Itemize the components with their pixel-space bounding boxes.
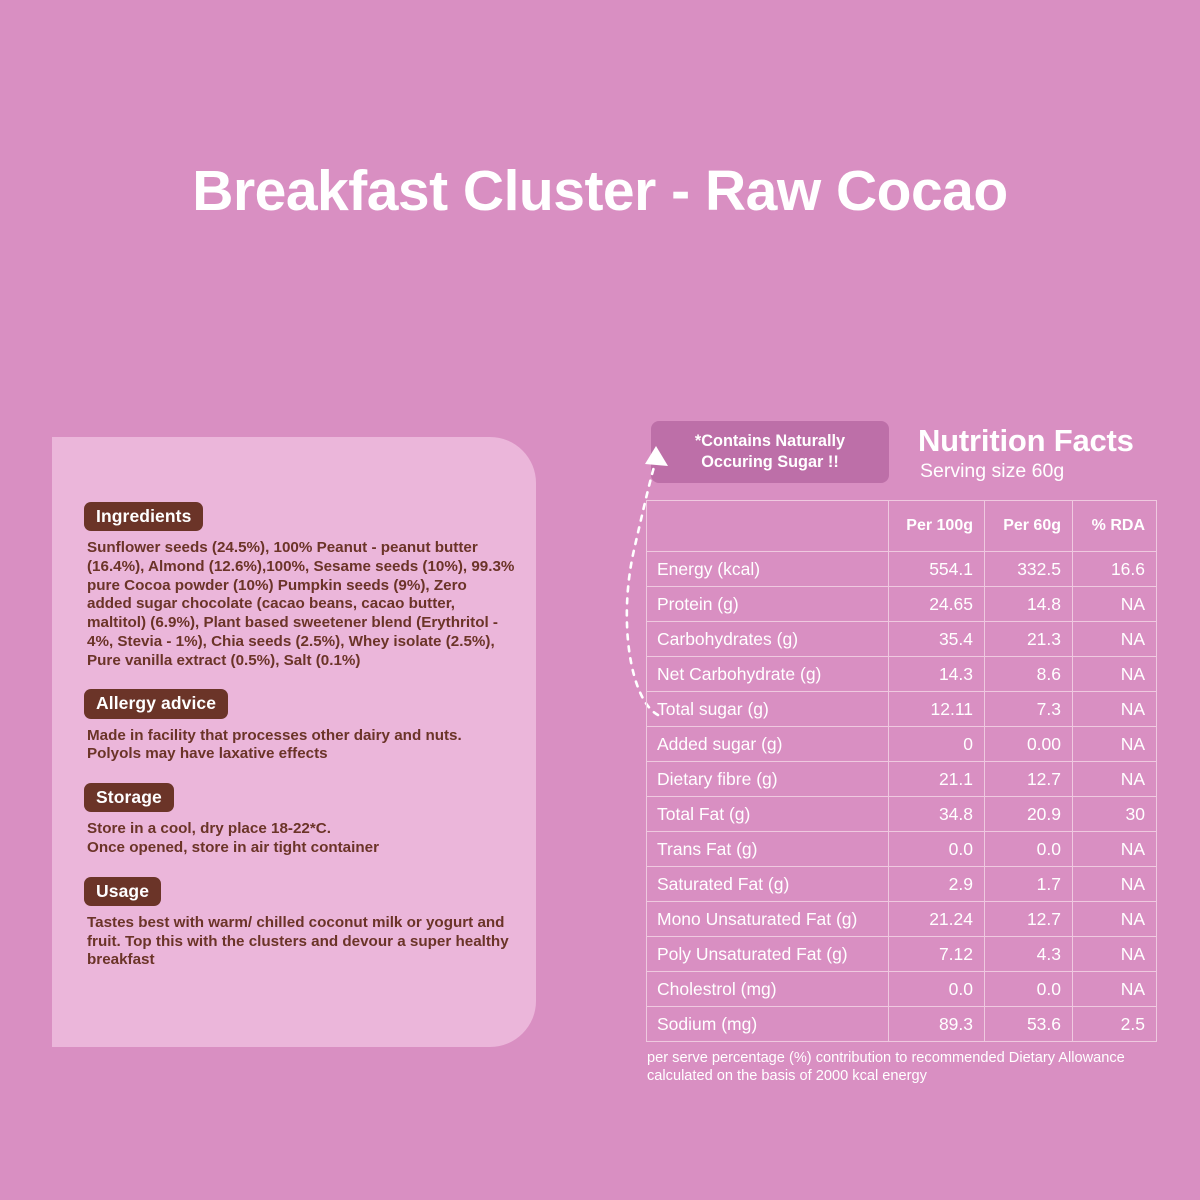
section-body-usage: Tastes best with warm/ chilled coconut m… [87,914,515,970]
rda-footnote: per serve percentage (%) contribution to… [647,1049,1159,1085]
cell-nutrient-name: Added sugar (g) [647,727,889,762]
cell-rda: 30 [1073,797,1157,832]
cell-per-100g: 89.3 [889,1007,985,1042]
cell-per-100g: 0.0 [889,832,985,867]
cell-rda: NA [1073,587,1157,622]
cell-nutrient-name: Sodium (mg) [647,1007,889,1042]
product-info-card: Ingredients Sunflower seeds (24.5%), 100… [52,437,536,1047]
cell-nutrient-name: Energy (kcal) [647,552,889,587]
cell-rda: NA [1073,867,1157,902]
cell-per-60g: 0.00 [985,727,1073,762]
cell-rda: NA [1073,657,1157,692]
cell-rda: NA [1073,762,1157,797]
table-row: Total Fat (g)34.820.930 [647,797,1157,832]
table-row: Total sugar (g)12.117.3NA [647,692,1157,727]
cell-per-100g: 34.8 [889,797,985,832]
cell-per-60g: 21.3 [985,622,1073,657]
cell-per-60g: 1.7 [985,867,1073,902]
cell-nutrient-name: Total sugar (g) [647,692,889,727]
sugar-callout-line1: *Contains Naturally [689,431,851,452]
cell-per-60g: 0.0 [985,832,1073,867]
cell-per-60g: 14.8 [985,587,1073,622]
section-label-usage: Usage [84,877,161,906]
cell-per-100g: 35.4 [889,622,985,657]
table-row: Carbohydrates (g)35.421.3NA [647,622,1157,657]
section-label-storage: Storage [84,783,174,812]
cell-rda: NA [1073,727,1157,762]
section-label-allergy-advice: Allergy advice [84,689,228,718]
cell-nutrient-name: Trans Fat (g) [647,832,889,867]
cell-per-60g: 332.5 [985,552,1073,587]
cell-nutrient-name: Saturated Fat (g) [647,867,889,902]
cell-per-100g: 7.12 [889,937,985,972]
info-card-sections: Ingredients Sunflower seeds (24.5%), 100… [84,502,514,989]
cell-per-60g: 4.3 [985,937,1073,972]
page-title: Breakfast Cluster - Raw Cocao [0,160,1200,223]
sugar-callout-line2: Occuring Sugar !! [689,452,851,473]
column-header-per-100g: Per 100g [889,501,985,552]
table-header: Per 100g Per 60g % RDA [647,501,1157,552]
cell-nutrient-name: Net Carbohydrate (g) [647,657,889,692]
cell-per-60g: 53.6 [985,1007,1073,1042]
cell-per-60g: 0.0 [985,972,1073,1007]
cell-per-100g: 21.24 [889,902,985,937]
nutrition-facts-heading: Nutrition Facts [918,423,1134,459]
table-header-row: Per 100g Per 60g % RDA [647,501,1157,552]
cell-per-60g: 20.9 [985,797,1073,832]
table-row: Saturated Fat (g)2.91.7NA [647,867,1157,902]
table-row: Energy (kcal)554.1332.516.6 [647,552,1157,587]
cell-rda: NA [1073,622,1157,657]
cell-per-100g: 14.3 [889,657,985,692]
cell-per-60g: 8.6 [985,657,1073,692]
table-row: Added sugar (g)00.00NA [647,727,1157,762]
table-row: Net Carbohydrate (g)14.38.6NA [647,657,1157,692]
cell-nutrient-name: Mono Unsaturated Fat (g) [647,902,889,937]
cell-rda: NA [1073,972,1157,1007]
table-row: Dietary fibre (g)21.112.7NA [647,762,1157,797]
nutrition-facts-table: Per 100g Per 60g % RDA Energy (kcal)554.… [646,500,1157,1042]
cell-rda: NA [1073,937,1157,972]
cell-nutrient-name: Poly Unsaturated Fat (g) [647,937,889,972]
table-row: Mono Unsaturated Fat (g)21.2412.7NA [647,902,1157,937]
cell-per-100g: 2.9 [889,867,985,902]
cell-rda: NA [1073,832,1157,867]
column-header-per-60g: Per 60g [985,501,1073,552]
cell-nutrient-name: Dietary fibre (g) [647,762,889,797]
cell-per-100g: 0.0 [889,972,985,1007]
cell-nutrient-name: Cholestrol (mg) [647,972,889,1007]
table-row: Cholestrol (mg)0.00.0NA [647,972,1157,1007]
cell-nutrient-name: Protein (g) [647,587,889,622]
sugar-callout-badge: *Contains Naturally Occuring Sugar !! [651,421,889,483]
table-row: Protein (g)24.6514.8NA [647,587,1157,622]
section-body-allergy-advice: Made in facility that processes other da… [87,727,515,764]
section-usage: Usage Tastes best with warm/ chilled coc… [84,877,514,970]
cell-per-60g: 7.3 [985,692,1073,727]
cell-rda: 16.6 [1073,552,1157,587]
serving-size-text: Serving size 60g [920,460,1064,483]
section-body-ingredients: Sunflower seeds (24.5%), 100% Peanut - p… [87,539,515,670]
cell-nutrient-name: Total Fat (g) [647,797,889,832]
table-row: Trans Fat (g)0.00.0NA [647,832,1157,867]
section-label-ingredients: Ingredients [84,502,203,531]
cell-per-100g: 12.11 [889,692,985,727]
cell-per-60g: 12.7 [985,902,1073,937]
column-header-nutrient [647,501,889,552]
cell-rda: 2.5 [1073,1007,1157,1042]
cell-nutrient-name: Carbohydrates (g) [647,622,889,657]
column-header-rda: % RDA [1073,501,1157,552]
cell-per-60g: 12.7 [985,762,1073,797]
cell-per-100g: 21.1 [889,762,985,797]
section-allergy-advice: Allergy advice Made in facility that pro… [84,689,514,764]
table-row: Sodium (mg)89.353.62.5 [647,1007,1157,1042]
cell-per-100g: 24.65 [889,587,985,622]
table-body: Energy (kcal)554.1332.516.6Protein (g)24… [647,552,1157,1042]
cell-rda: NA [1073,692,1157,727]
cell-per-100g: 554.1 [889,552,985,587]
section-body-storage: Store in a cool, dry place 18-22*C. Once… [87,820,515,857]
section-ingredients: Ingredients Sunflower seeds (24.5%), 100… [84,502,514,670]
cell-per-100g: 0 [889,727,985,762]
section-storage: Storage Store in a cool, dry place 18-22… [84,783,514,858]
cell-rda: NA [1073,902,1157,937]
table-row: Poly Unsaturated Fat (g)7.124.3NA [647,937,1157,972]
